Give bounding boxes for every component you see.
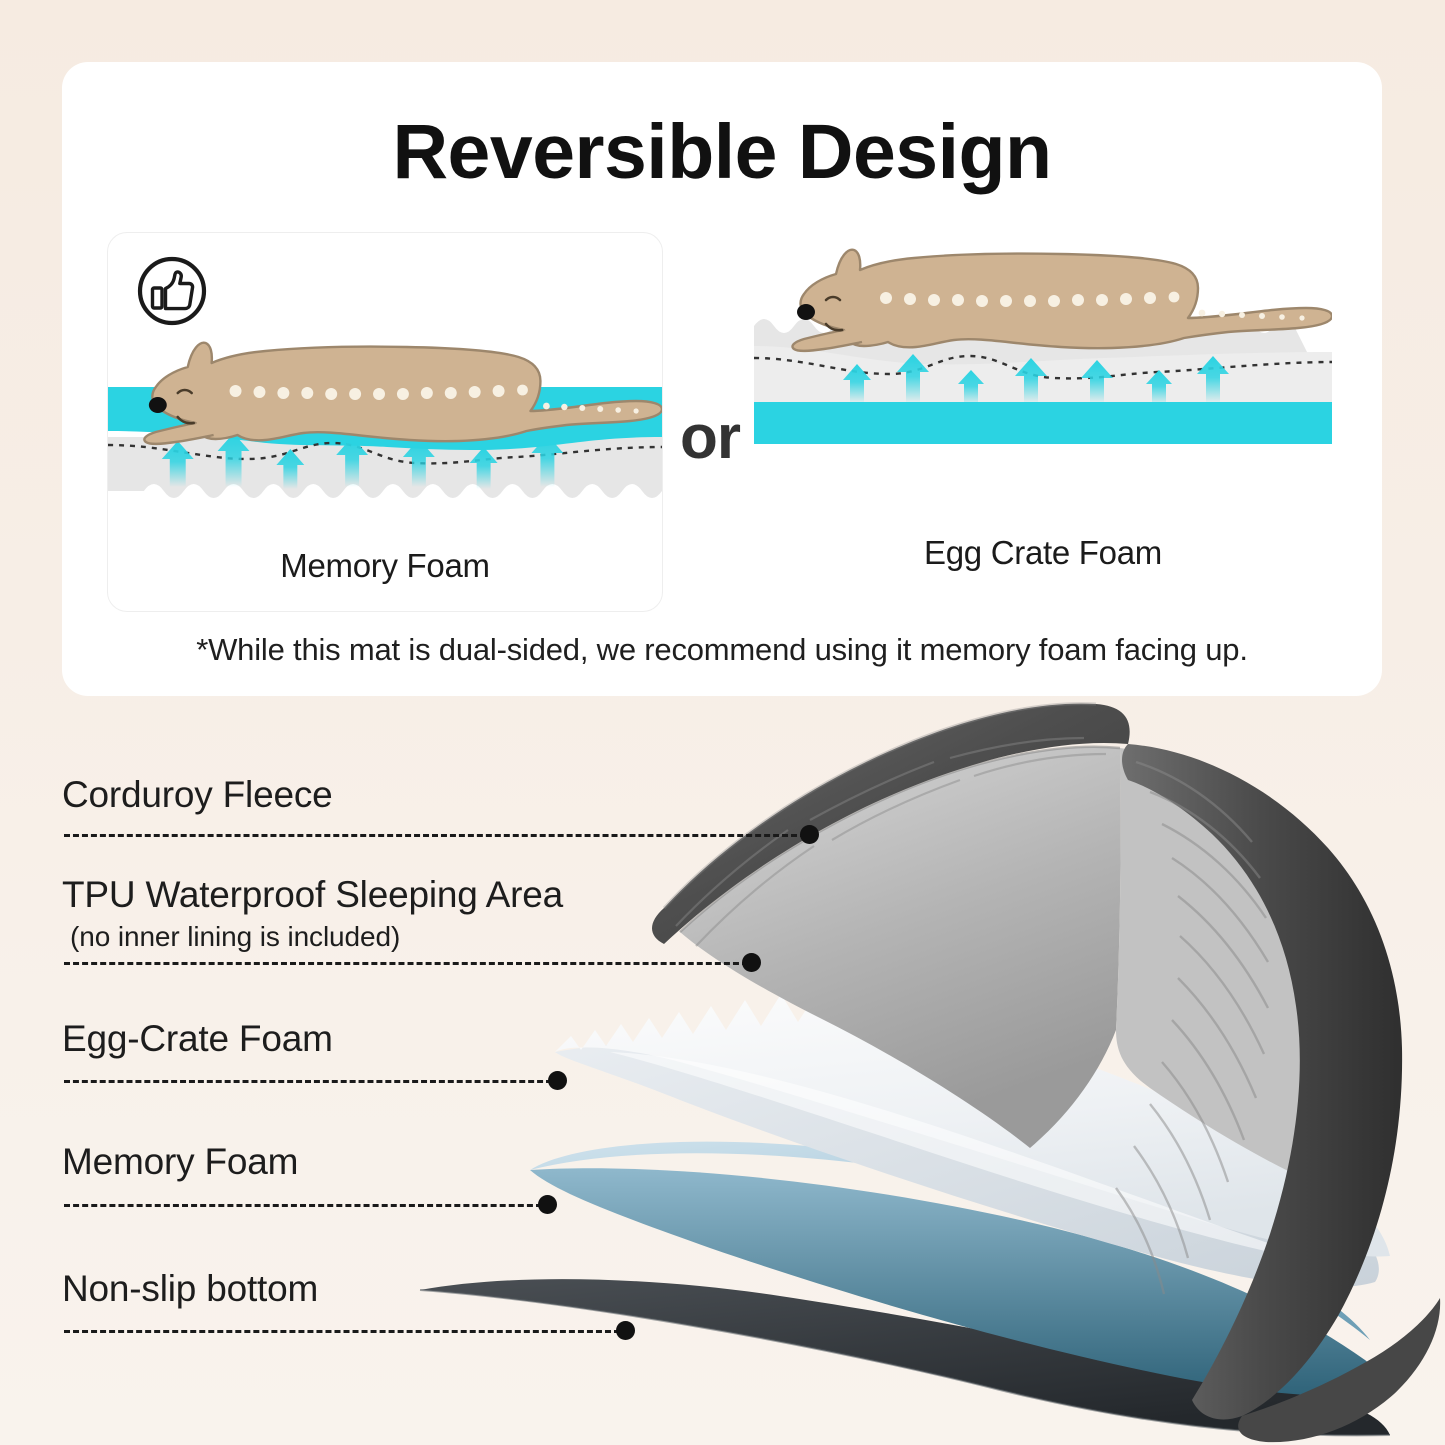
- leader-line-memory-foam: [64, 1204, 542, 1207]
- feature-label: TPU Waterproof Sleeping Area: [62, 876, 563, 915]
- or-divider-label: or: [670, 402, 750, 473]
- page-title: Reversible Design: [62, 114, 1382, 191]
- leader-dot-corduroy-fleece: [800, 825, 819, 844]
- feature-label: Egg-Crate Foam: [62, 1020, 333, 1059]
- feature-egg-crate-foam: Egg-Crate Foam: [62, 1020, 333, 1059]
- feature-memory-foam: Memory Foam: [62, 1143, 298, 1182]
- product-layers-illustration: [380, 700, 1445, 1445]
- leader-line-tpu-waterproof: [64, 962, 748, 965]
- leader-line-corduroy-fleece: [64, 834, 806, 837]
- leader-dot-egg-crate-foam: [548, 1071, 567, 1090]
- leader-dot-non-slip-bottom: [616, 1321, 635, 1340]
- leader-line-egg-crate-foam: [64, 1080, 552, 1083]
- panel-caption-memory-foam: Memory Foam: [108, 547, 662, 585]
- feature-label: Memory Foam: [62, 1143, 298, 1182]
- egg-crate-foam-cross-section: [754, 242, 1332, 467]
- reversible-design-card: Reversible Design: [62, 62, 1382, 696]
- memory-foam-cross-section: [108, 319, 662, 539]
- feature-sublabel: (no inner lining is included): [62, 921, 563, 953]
- feature-tpu-waterproof: TPU Waterproof Sleeping Area (no inner l…: [62, 876, 563, 953]
- leader-dot-tpu-waterproof: [742, 953, 761, 972]
- panel-memory-foam: Memory Foam: [107, 232, 663, 612]
- comparison-panels: Memory Foam or: [62, 232, 1382, 627]
- panel-egg-crate-foam: Egg Crate Foam: [754, 232, 1332, 612]
- feature-label: Corduroy Fleece: [62, 776, 333, 815]
- panel-caption-egg-crate-foam: Egg Crate Foam: [754, 534, 1332, 572]
- feature-label: Non-slip bottom: [62, 1270, 318, 1309]
- thumbs-up-icon: [136, 255, 208, 327]
- feature-corduroy-fleece: Corduroy Fleece: [62, 776, 333, 815]
- leader-line-non-slip-bottom: [64, 1330, 620, 1333]
- leader-dot-memory-foam: [538, 1195, 557, 1214]
- infographic-page: Reversible Design: [0, 0, 1445, 1445]
- recommendation-footnote: *While this mat is dual-sided, we recomm…: [62, 632, 1382, 668]
- feature-non-slip-bottom: Non-slip bottom: [62, 1270, 318, 1309]
